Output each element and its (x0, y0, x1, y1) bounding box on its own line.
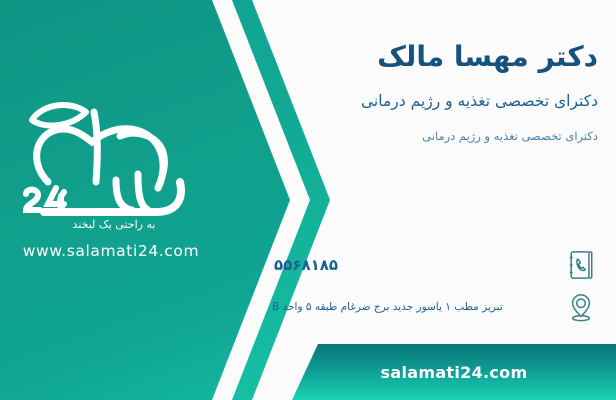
contact-row-phone: ۵۵۶۸۱۸۵ (268, 246, 598, 284)
logo-website: www.salamati24.com (8, 242, 214, 260)
contact-row-address: تبریز مطب ۱ یاسور جدید برج ضرغام طبقه ۵ … (268, 288, 598, 326)
card-content: دکتر مهسا مالک دکترای تخصصی تغذیه و رژیم… (268, 0, 598, 400)
brand-logo: به راحتی یک لبخند www.salamati24.com (8, 96, 220, 282)
logo-tagline: به راحتی یک لبخند (8, 218, 220, 231)
address-text: تبریز مطب ۱ یاسور جدید برج ضرغام طبقه ۵ … (268, 301, 552, 313)
phone-number: ۵۵۶۸۱۸۵ (268, 256, 552, 274)
doctor-name: دکتر مهسا مالک (268, 40, 598, 73)
specialty-primary: دکترای تخصصی تغذیه و رژیم درمانی (268, 92, 598, 110)
map-pin-icon (564, 288, 598, 326)
phone-book-icon (564, 246, 598, 284)
business-card: به راحتی یک لبخند www.salamati24.com دکت… (0, 0, 616, 400)
specialty-secondary: دکترای تخصصی تغذیه و رژیم درمانی (268, 129, 598, 143)
footer-website: salamati24.com (381, 363, 528, 382)
footer-bar: salamati24.com (292, 344, 616, 400)
